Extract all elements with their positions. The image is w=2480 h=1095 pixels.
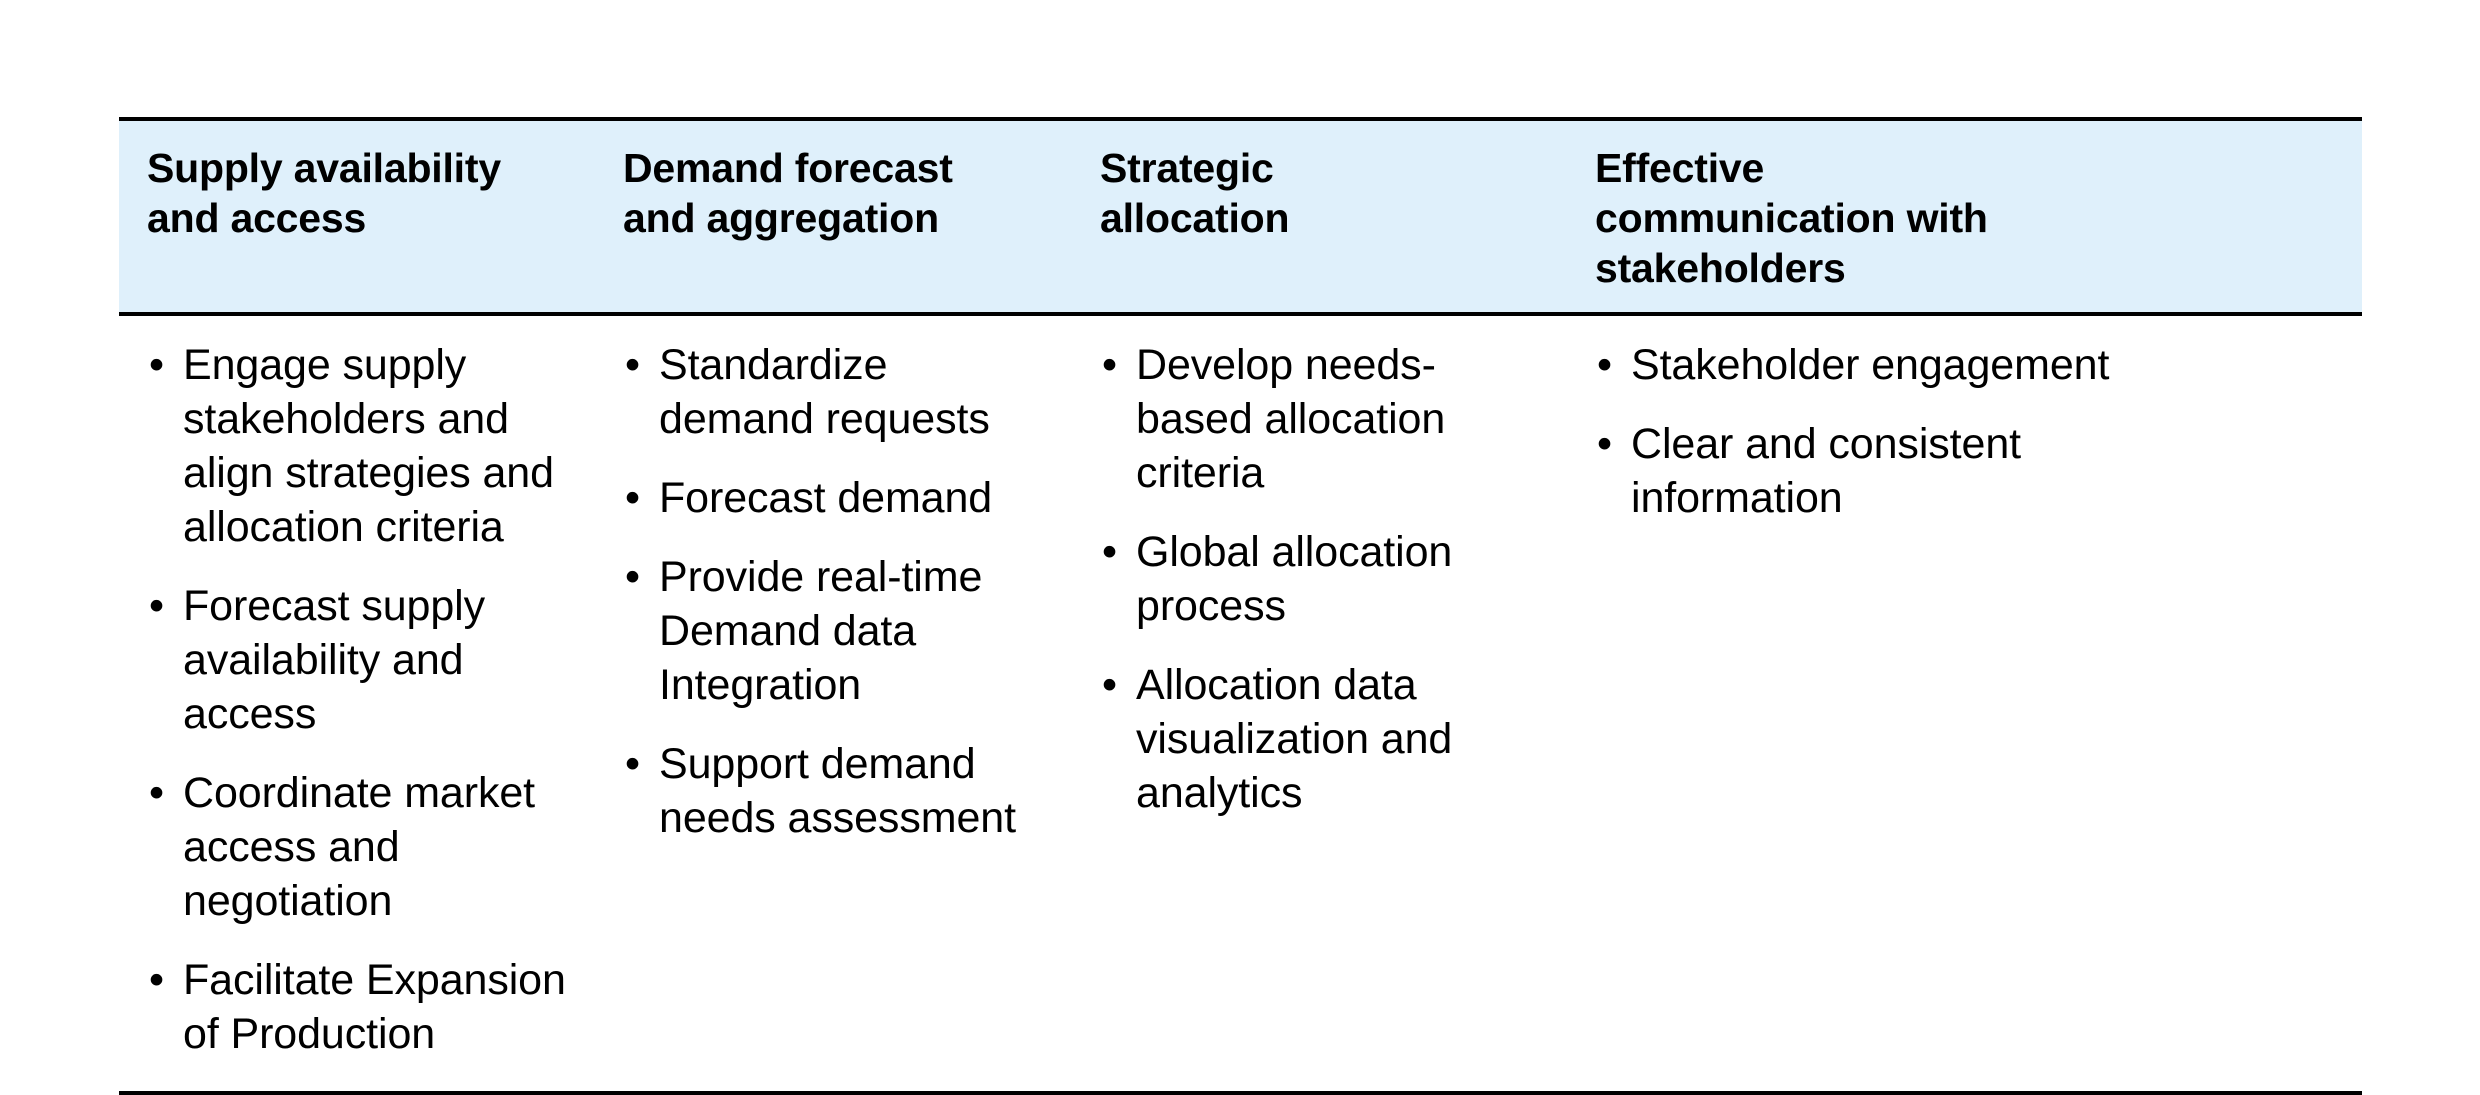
column-body-cell-1: • Engage supply stakeholders and align s…	[119, 338, 584, 1061]
table-header-row: Supply availability and access Demand fo…	[119, 121, 2362, 312]
bullet-icon: •	[1597, 338, 1612, 392]
bullet-icon: •	[149, 338, 164, 392]
bullet-icon: •	[149, 579, 164, 633]
column-title-supply-availability-and-access: Supply availability and access	[147, 143, 574, 243]
column-header-cell-2: Demand forecast and aggregation	[584, 143, 1064, 243]
capability-table: Supply availability and access Demand fo…	[119, 117, 2362, 1095]
bullet-icon: •	[149, 953, 164, 1007]
list-item-label: Stakeholder engagement	[1631, 341, 2109, 389]
list-item: • Standardize demand requests	[623, 338, 1046, 446]
list-item-label: Support demand needs assessment	[659, 740, 1016, 842]
column-body-cell-3: • Develop needs-based allocation criteri…	[1064, 338, 1554, 820]
bullet-icon: •	[1102, 658, 1117, 712]
list-item: • Engage supply stakeholders and align s…	[147, 338, 574, 554]
list-item: • Clear and consistent information	[1595, 417, 2231, 525]
bullet-list-strategic-allocation: • Develop needs-based allocation criteri…	[1100, 338, 1528, 820]
bullet-icon: •	[149, 766, 164, 820]
list-item: • Allocation data visualization and anal…	[1100, 658, 1528, 820]
column-header-cell-1: Supply availability and access	[119, 143, 584, 243]
list-item-label: Facilitate Expansion of Production	[183, 956, 566, 1058]
column-title-strategic-allocation: Strategic allocation	[1100, 143, 1528, 243]
bullet-list-demand-forecast: • Standardize demand requests • Forecast…	[623, 338, 1046, 845]
list-item: • Develop needs-based allocation criteri…	[1100, 338, 1528, 500]
list-item-label: Global allocation process	[1136, 528, 1452, 630]
list-item-label: Forecast supply availability and access	[183, 582, 485, 738]
table-body-row: • Engage supply stakeholders and align s…	[119, 316, 2362, 1091]
list-item: • Facilitate Expansion of Production	[147, 953, 574, 1061]
list-item: • Forecast supply availability and acces…	[147, 579, 574, 741]
bullet-icon: •	[1102, 338, 1117, 392]
list-item-label: Coordinate market access and negotiation	[183, 769, 535, 925]
column-body-cell-2: • Standardize demand requests • Forecast…	[584, 338, 1064, 845]
bullet-icon: •	[625, 737, 640, 791]
list-item-label: Clear and consistent information	[1631, 420, 2021, 522]
column-title-effective-communication-with-stakeholders: Effective communication with stakeholder…	[1595, 143, 2342, 293]
list-item-label: Allocation data visualization and analyt…	[1136, 661, 1452, 817]
bullet-icon: •	[625, 338, 640, 392]
list-item-label: Develop needs-based allocation criteria	[1136, 341, 1445, 497]
list-item: • Provide real-time Demand data Integrat…	[623, 550, 1046, 712]
list-item: • Support demand needs assessment	[623, 737, 1046, 845]
list-item-label: Standardize demand requests	[659, 341, 990, 443]
table-page: Supply availability and access Demand fo…	[0, 0, 2480, 1028]
column-header-cell-3: Strategic allocation	[1064, 143, 1554, 243]
bullet-icon: •	[625, 471, 640, 525]
bullet-list-effective-communication: • Stakeholder engagement • Clear and con…	[1595, 338, 2342, 525]
list-item: • Coordinate market access and negotiati…	[147, 766, 574, 928]
list-item: • Stakeholder engagement	[1595, 338, 2231, 392]
bullet-list-supply-availability: • Engage supply stakeholders and align s…	[147, 338, 574, 1061]
bullet-icon: •	[625, 550, 640, 604]
column-header-cell-4: Effective communication with stakeholder…	[1554, 143, 2362, 293]
table-bottom-rule	[119, 1091, 2362, 1095]
column-body-cell-4: • Stakeholder engagement • Clear and con…	[1554, 338, 2362, 525]
bullet-icon: •	[1597, 417, 1612, 471]
bullet-icon: •	[1102, 525, 1117, 579]
list-item-label: Engage supply stakeholders and align str…	[183, 341, 554, 551]
list-item: • Global allocation process	[1100, 525, 1528, 633]
column-title-demand-forecast-and-aggregation: Demand forecast and aggregation	[623, 143, 1046, 243]
list-item-label: Provide real-time Demand data Integratio…	[659, 553, 982, 709]
list-item: • Forecast demand	[623, 471, 1046, 525]
list-item-label: Forecast demand	[659, 474, 992, 522]
